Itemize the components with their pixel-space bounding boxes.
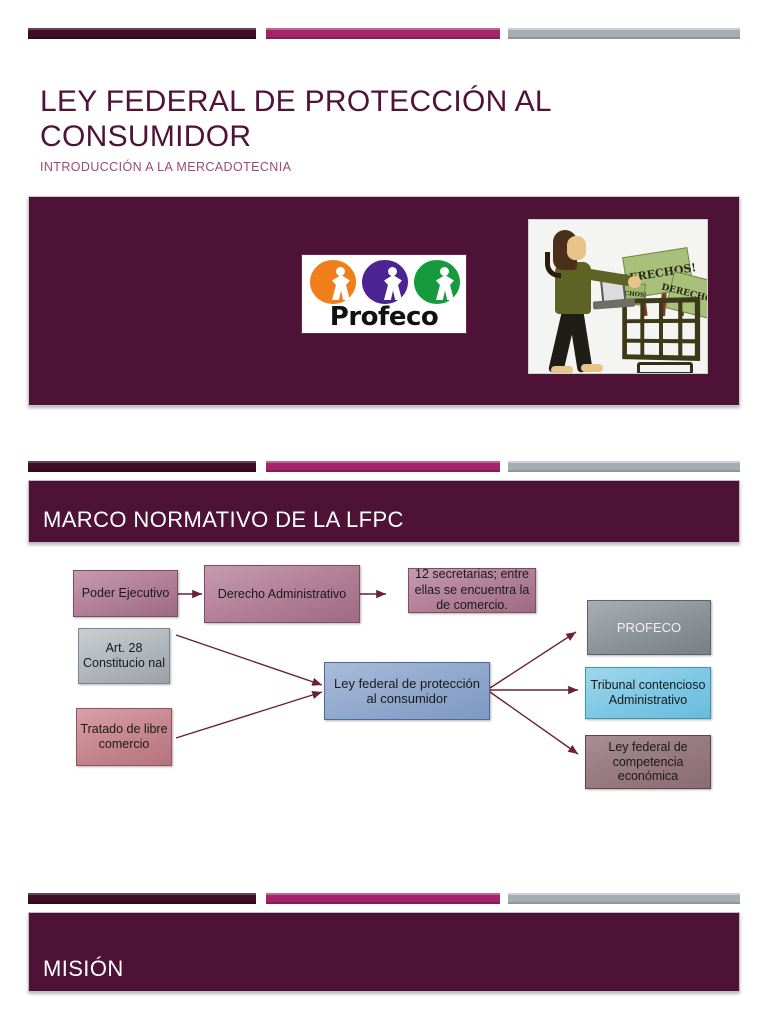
decor-bar-magenta bbox=[266, 28, 500, 39]
decor-bar-magenta bbox=[266, 461, 500, 472]
decor-bar-dark bbox=[28, 28, 256, 39]
woman-shoe bbox=[551, 366, 573, 374]
node-ley-competencia-economica[interactable]: Ley federal de competencia económica bbox=[585, 735, 711, 789]
woman-hair-strand bbox=[545, 252, 561, 278]
profeco-logo: Profeco bbox=[301, 254, 467, 334]
section-header-mision: MISIÓN bbox=[28, 912, 740, 992]
decor-bar-set-middle bbox=[28, 461, 740, 475]
person-figure-icon bbox=[434, 262, 456, 302]
section-header-marco-normativo: MARCO NORMATIVO DE LA LFPC bbox=[28, 480, 740, 543]
decor-bar-gray bbox=[508, 461, 740, 472]
page-title: LEY FEDERAL DE PROTECCIÓN AL CONSUMIDOR bbox=[40, 84, 600, 155]
title-image-block: Profeco DERECHOS! DERECHOS! DERECHOS! bbox=[28, 196, 740, 406]
decor-bar-dark bbox=[28, 893, 256, 904]
page-subtitle: INTRODUCCIÓN A LA MERCADOTECNIA bbox=[40, 160, 600, 174]
node-poder-ejecutivo[interactable]: Poder Ejecutivo bbox=[73, 570, 178, 617]
node-derecho-administrativo[interactable]: Derecho Administrativo bbox=[204, 565, 360, 623]
decor-bar-gray bbox=[508, 893, 740, 904]
cart-base-icon bbox=[637, 362, 693, 374]
node-profeco[interactable]: PROFECO bbox=[587, 600, 711, 655]
shopping-cart-icon bbox=[622, 297, 700, 361]
section-title: MISIÓN bbox=[43, 956, 124, 982]
node-art-28-constitucional[interactable]: Art. 28 Constitucio nal bbox=[78, 628, 170, 684]
decor-bar-set-top bbox=[28, 28, 740, 42]
woman-hand bbox=[628, 276, 641, 288]
profeco-circles bbox=[308, 260, 462, 304]
decor-bar-gray bbox=[508, 28, 740, 39]
node-12-secretarias[interactable]: 12 secretarias; entre ellas se encuentra… bbox=[408, 568, 536, 613]
marco-normativo-diagram: Poder Ejecutivo Derecho Administrativo 1… bbox=[0, 540, 768, 830]
presentation-page: LEY FEDERAL DE PROTECCIÓN AL CONSUMIDOR … bbox=[0, 0, 768, 1024]
woman-face bbox=[567, 236, 586, 260]
node-tratado-libre-comercio[interactable]: Tratado de libre comercio bbox=[76, 708, 172, 766]
person-figure-icon bbox=[330, 262, 352, 302]
decor-bar-dark bbox=[28, 461, 256, 472]
decor-bar-magenta bbox=[266, 893, 500, 904]
page-bottom-margin bbox=[0, 1000, 768, 1024]
person-figure-icon bbox=[382, 262, 404, 302]
node-tribunal-contencioso[interactable]: Tribunal contencioso Administrativo bbox=[585, 667, 711, 719]
woman-shoe bbox=[581, 364, 603, 372]
profeco-wordmark: Profeco bbox=[302, 302, 466, 332]
node-ley-federal-proteccion-consumidor[interactable]: Ley federal de protección al consumidor bbox=[324, 662, 490, 720]
consumer-rights-clipart: DERECHOS! DERECHOS! DERECHOS! bbox=[528, 219, 708, 374]
section-title: MARCO NORMATIVO DE LA LFPC bbox=[43, 507, 404, 533]
decor-bar-set-bottom bbox=[28, 893, 740, 907]
